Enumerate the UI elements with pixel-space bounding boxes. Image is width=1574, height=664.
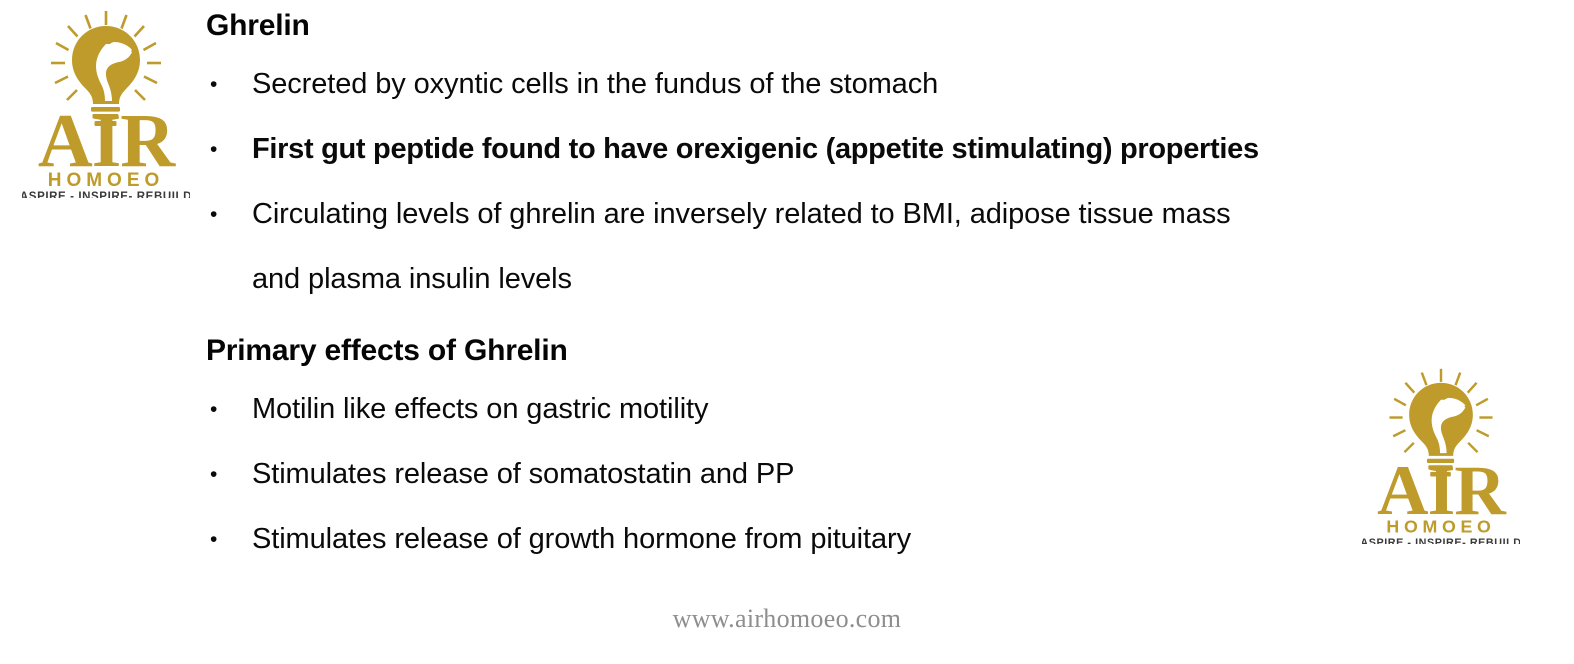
list-item: • Stimulates release of growth hormone f…	[206, 507, 1406, 572]
bullet-marker-icon: •	[206, 182, 252, 247]
bullet-marker-icon: •	[206, 52, 252, 117]
list-item-text-line-2: and plasma insulin levels	[252, 247, 1406, 312]
list-item-text-line-1: Circulating levels of ghrelin are invers…	[252, 182, 1406, 247]
list-item-text: First gut peptide found to have orexigen…	[252, 117, 1406, 182]
bullet-marker-icon: •	[206, 377, 252, 442]
list-item: • Stimulates release of somatostatin and…	[206, 442, 1406, 507]
list-item-text: Secreted by oxyntic cells in the fundus …	[252, 52, 1406, 117]
logo-tagline: ASPIRE - INSPIRE- REBUILD	[22, 191, 190, 198]
heading-ghrelin: Ghrelin	[206, 0, 1406, 52]
slide-body: Ghrelin • Secreted by oxyntic cells in t…	[206, 0, 1406, 572]
list-item: • Secreted by oxyntic cells in the fundu…	[206, 52, 1406, 117]
bullet-marker-icon: •	[206, 507, 252, 572]
air-homoeo-logo-svg: AIR HOMOEO ASPIRE - INSPIRE- REBUILD	[22, 8, 190, 198]
bullet-marker-icon: •	[206, 117, 252, 182]
logo-air-homoeo-top-left: AIR HOMOEO ASPIRE - INSPIRE- REBUILD	[22, 8, 190, 198]
list-item-text: Motilin like effects on gastric motility	[252, 377, 1406, 442]
footer-website-url: www.airhomoeo.com	[0, 604, 1574, 634]
list-item-text: Stimulates release of somatostatin and P…	[252, 442, 1406, 507]
list-item-text: Stimulates release of growth hormone fro…	[252, 507, 1406, 572]
list-item: • Circulating levels of ghrelin are inve…	[206, 182, 1406, 312]
logo-subword: HOMOEO	[48, 170, 165, 191]
list-item: • Motilin like effects on gastric motili…	[206, 377, 1406, 442]
list-item-text: Circulating levels of ghrelin are invers…	[252, 182, 1406, 312]
slide-canvas: AIR HOMOEO ASPIRE - INSPIRE- REBUILD	[0, 0, 1574, 664]
bullet-marker-icon: •	[206, 442, 252, 507]
heading-primary-effects: Primary effects of Ghrelin	[206, 325, 1406, 377]
list-item: • First gut peptide found to have orexig…	[206, 117, 1406, 182]
